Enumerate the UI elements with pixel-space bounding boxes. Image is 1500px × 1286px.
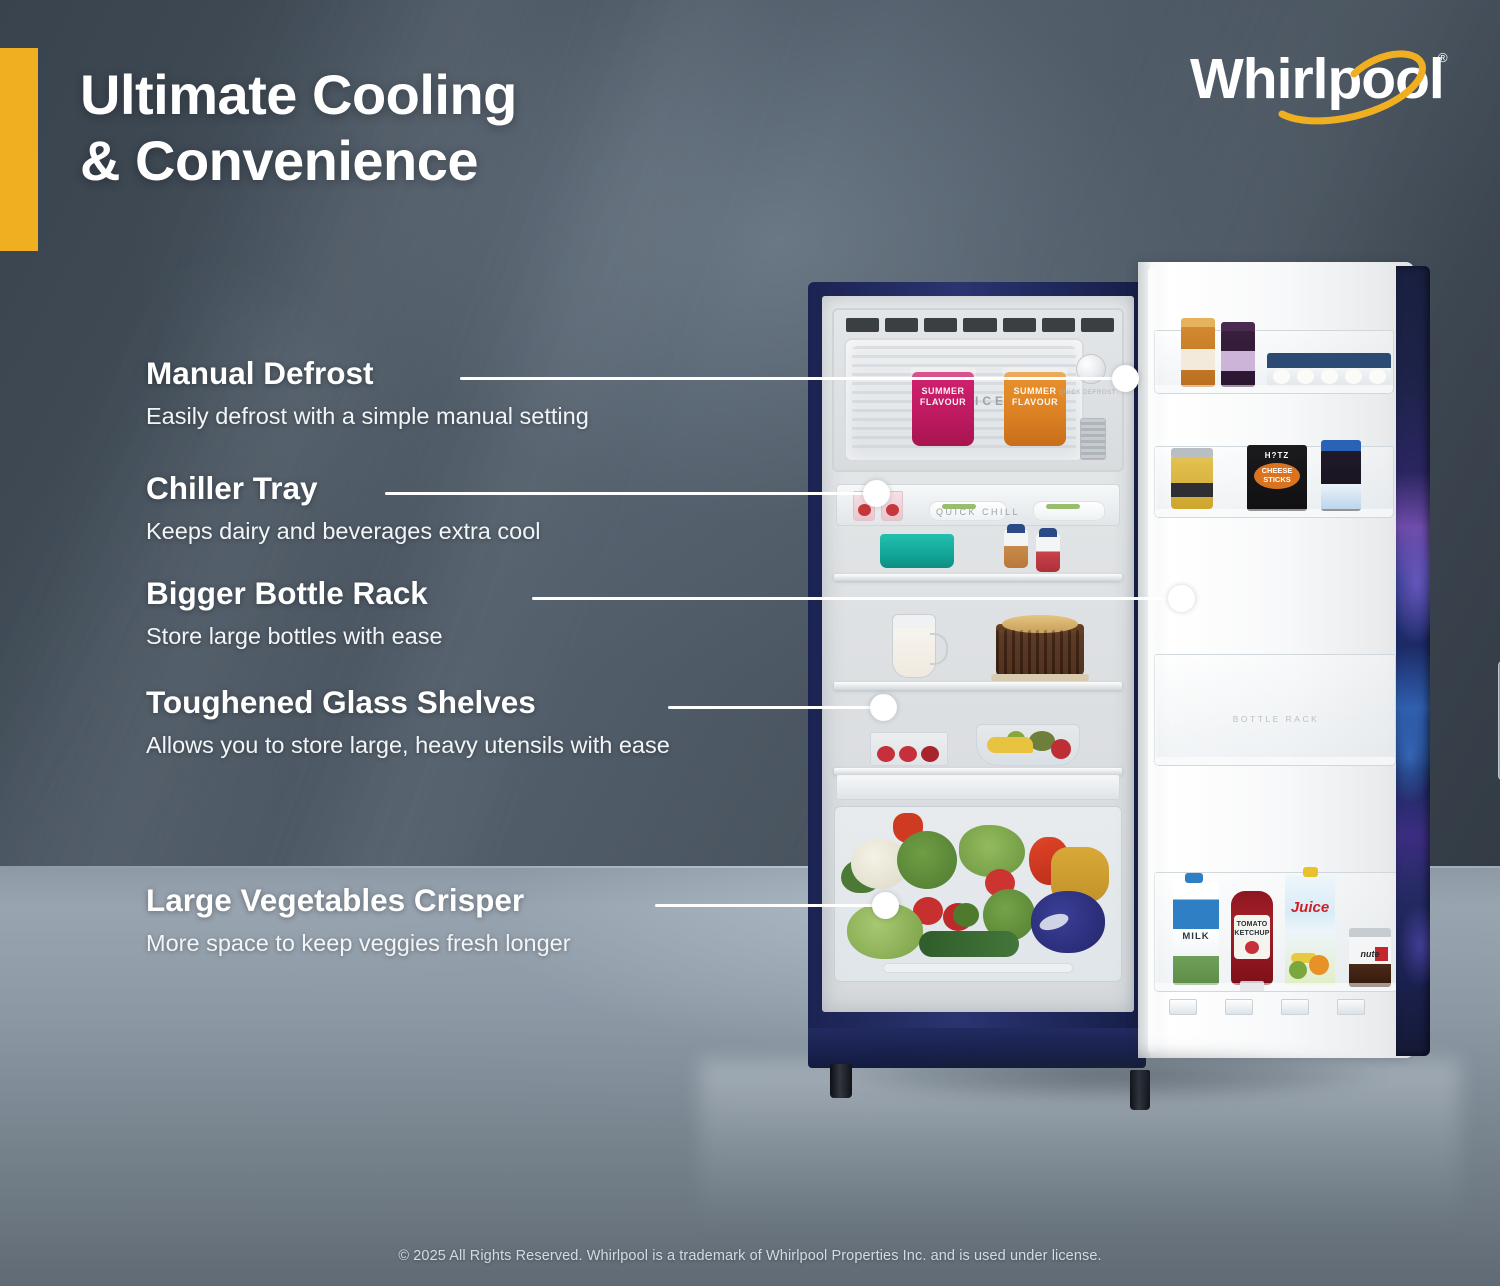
callout-toughened-glass-shelves: Toughened Glass Shelves Allows you to st… <box>146 687 670 757</box>
callout-title: Large Vegetables Crisper <box>146 885 571 917</box>
callout-leader-line <box>668 706 883 709</box>
crisper-lid <box>836 774 1120 800</box>
callout-subtitle: Store large bottles with ease <box>146 625 443 649</box>
ice-cream-label: SUMMER FLAVOUR <box>1004 386 1066 408</box>
spread-label: nute <box>1349 949 1391 959</box>
cheese-sticks-pack: H?TZ CHEESE STICKS <box>1247 445 1307 511</box>
freezer-inner-door: FAST ICE SUMMER FLAVOUR SUMMER FLAVOUR <box>844 338 1084 462</box>
milk-label: MILK <box>1173 931 1219 942</box>
page-title-line2: & Convenience <box>80 128 840 194</box>
door-bin-second: H?TZ CHEESE STICKS <box>1154 446 1394 518</box>
door-bottle-rack <box>1154 654 1396 766</box>
egg-tray <box>1267 353 1391 387</box>
callout-title: Toughened Glass Shelves <box>146 687 670 719</box>
page-title: Ultimate Cooling & Convenience <box>80 62 840 193</box>
callout-endpoint-dot <box>872 892 899 919</box>
milk-jug <box>892 614 936 678</box>
teal-food-container <box>880 534 954 568</box>
callout-leader-line <box>655 904 895 907</box>
freezer-compartment: FAST ICE SUMMER FLAVOUR SUMMER FLAVOUR Q… <box>832 308 1124 472</box>
ketchup-label: TOMATO KETCHUP <box>1234 921 1270 938</box>
dessert-cup <box>1036 534 1060 572</box>
peanut-butter-jar <box>1181 325 1215 387</box>
glass-shelf <box>834 574 1122 581</box>
callout-endpoint-dot <box>1168 585 1195 612</box>
callout-title: Manual Defrost <box>146 358 589 390</box>
callout-bigger-bottle-rack: Bigger Bottle Rack Store large bottles w… <box>146 578 443 648</box>
tomato-container <box>870 732 948 766</box>
sauce-jar <box>1321 449 1361 511</box>
snack-name-label: CHEESE STICKS <box>1254 466 1300 484</box>
ice-tray <box>1080 418 1106 460</box>
callout-title: Chiller Tray <box>146 473 541 505</box>
jam-jar <box>1221 329 1255 387</box>
callout-endpoint-dot <box>1112 365 1139 392</box>
callout-subtitle: Allows you to store large, heavy utensil… <box>146 734 670 758</box>
whirlpool-logo: Whirlpool ® <box>1190 36 1458 132</box>
defrost-knob-label: QUICK DEFROST <box>1059 390 1116 396</box>
bottle-rack-label: BOTTLE RACK <box>1138 714 1414 724</box>
quick-chill-label: QUICK CHILL <box>936 507 1020 517</box>
callout-subtitle: Easily defrost with a simple manual sett… <box>146 405 589 429</box>
milk-carton: MILK <box>1173 881 1219 985</box>
mustard-jar <box>1171 455 1213 509</box>
callout-title: Bigger Bottle Rack <box>146 578 443 610</box>
juice-carton: Juice <box>1285 875 1335 985</box>
juice-label: Juice <box>1285 899 1335 916</box>
fruit-bowl <box>976 724 1080 766</box>
callout-leader-line <box>460 377 1120 380</box>
ketchup-bottle: TOMATO KETCHUP <box>1231 891 1273 985</box>
footer-copyright: © 2025 All Rights Reserved. Whirlpool is… <box>0 1248 1500 1264</box>
freezer-vents <box>846 318 1114 332</box>
callout-leader-line <box>532 597 1177 600</box>
door-highlight <box>1148 268 1158 1052</box>
page-title-line1: Ultimate Cooling <box>80 63 517 126</box>
door-bin-top <box>1154 330 1394 394</box>
dessert-cup <box>1004 530 1028 568</box>
chocolate-spread-jar: nute <box>1349 935 1391 987</box>
ice-cream-tub-orange: SUMMER FLAVOUR <box>1004 372 1066 446</box>
callout-endpoint-dot <box>870 694 897 721</box>
callout-manual-defrost: Manual Defrost Easily defrost with a sim… <box>146 358 589 428</box>
snack-brand-label: H?TZ <box>1247 451 1307 460</box>
registered-mark: ® <box>1438 50 1448 65</box>
callout-subtitle: Keeps dairy and beverages extra cool <box>146 520 541 544</box>
product-ground-shadow <box>760 1040 1460 1110</box>
refrigerator-door[interactable]: H?TZ CHEESE STICKS BOTTLE RACK <box>1138 262 1414 1058</box>
door-outer-panel <box>1396 266 1430 1056</box>
chocolate-cake <box>996 624 1084 676</box>
middle-glass-shelf <box>834 682 1122 690</box>
ice-cream-label: SUMMER FLAVOUR <box>912 386 974 408</box>
callout-large-vegetables-crisper: Large Vegetables Crisper More space to k… <box>146 885 571 955</box>
infographic-canvas: Ultimate Cooling & Convenience Whirlpool… <box>0 0 1500 1286</box>
covered-dish <box>1033 501 1105 521</box>
title-accent-bar <box>0 48 38 251</box>
callout-chiller-tray: Chiller Tray Keeps dairy and beverages e… <box>146 473 541 543</box>
callout-leader-line <box>385 492 875 495</box>
callout-endpoint-dot <box>863 480 890 507</box>
callout-subtitle: More space to keep veggies fresh longer <box>146 932 571 956</box>
ice-cream-tub-pink: SUMMER FLAVOUR <box>912 372 974 446</box>
door-bin-bottom: MILK TOMATO KETCHUP Juice nute <box>1154 872 1398 992</box>
